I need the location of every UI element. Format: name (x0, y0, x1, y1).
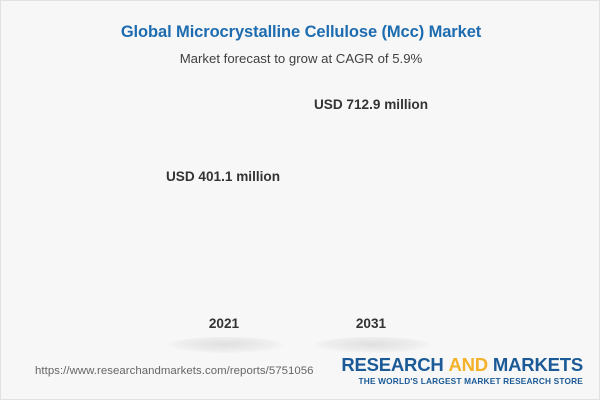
brand-logo[interactable]: RESEARCH AND MARKETS THE WORLD'S LARGEST… (341, 355, 583, 387)
axis-label-2031: 2031 (291, 316, 451, 331)
chart-card: Global Microcrystalline Cellulose (Mcc) … (0, 0, 600, 400)
axis-label-2021: 2021 (144, 316, 304, 331)
brand-word-research: RESEARCH (341, 354, 443, 375)
value-label-2021: USD 401.1 million (113, 169, 333, 184)
bar-2021[interactable] (174, 231, 273, 349)
source-url-link[interactable]: https://www.researchandmarkets.com/repor… (35, 365, 314, 377)
brand-word-and: AND (448, 354, 487, 375)
chart-plot-area: USD 401.1 million 2021 USD 712 (1, 1, 600, 349)
chart-footer: https://www.researchandmarkets.com/repor… (1, 347, 600, 399)
value-label-2031: USD 712.9 million (261, 97, 481, 112)
brand-tagline: THE WORLD'S LARGEST MARKET RESEARCH STOR… (341, 374, 583, 387)
brand-word-markets: MARKETS (493, 354, 583, 375)
brand-wordmark: RESEARCH AND MARKETS (341, 355, 583, 374)
